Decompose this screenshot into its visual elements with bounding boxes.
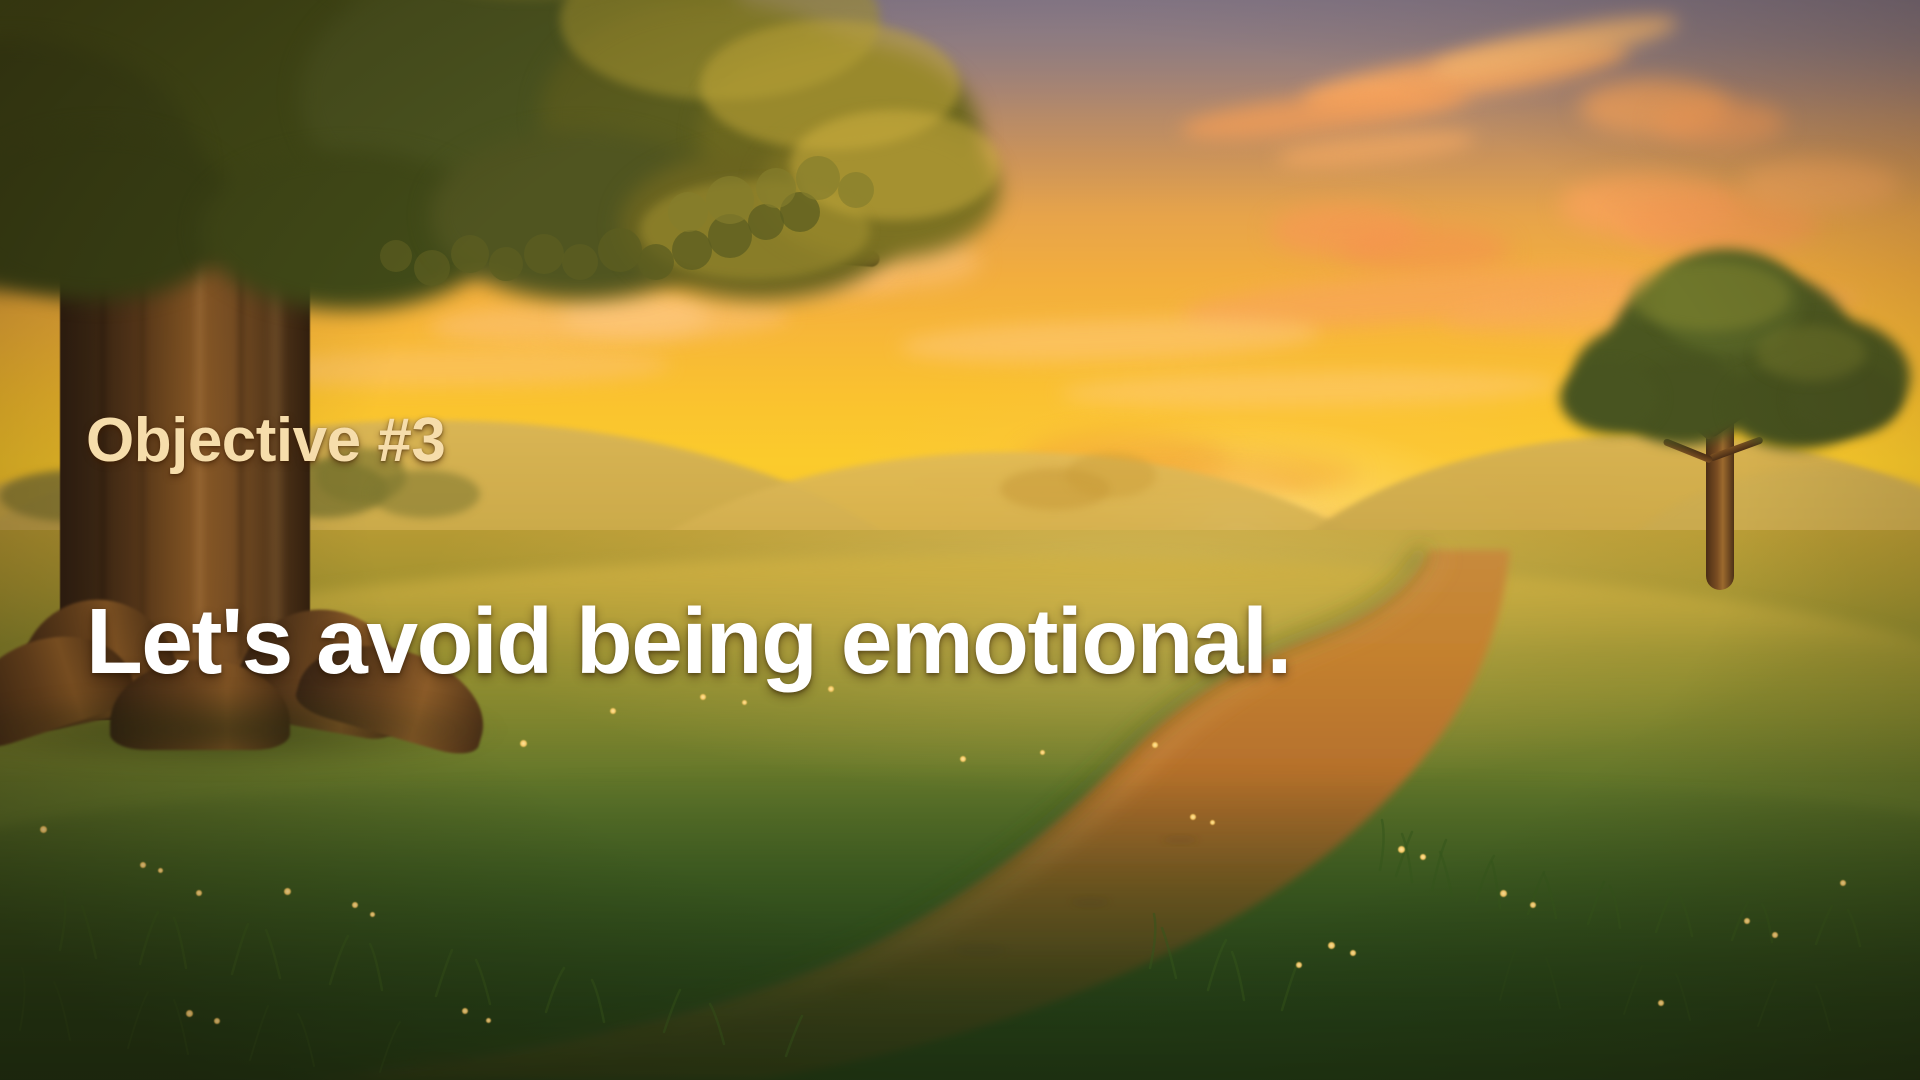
slide-canvas: Objective #3 Let's avoid being emotional… [0, 0, 1920, 1080]
objective-label: Objective #3 [86, 405, 445, 476]
text-overlay: Objective #3 Let's avoid being emotional… [0, 0, 1920, 1080]
headline-text: Let's avoid being emotional. [86, 588, 1291, 695]
